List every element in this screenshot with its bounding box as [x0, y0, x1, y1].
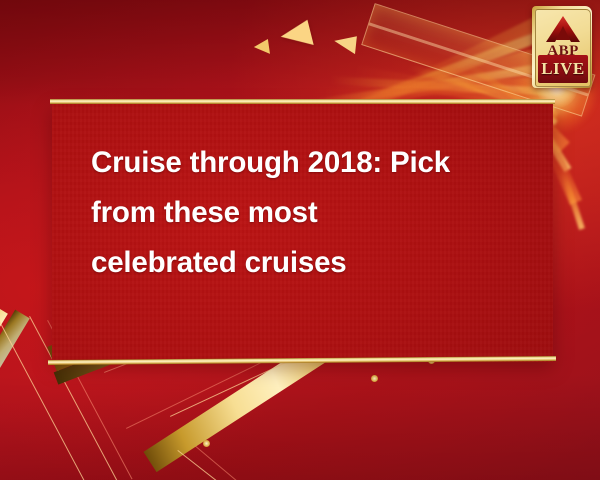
live-badge-text: LIVE: [541, 59, 585, 79]
gold-triangle-small-icon: [253, 39, 270, 56]
abp-chevron-icon: [546, 16, 580, 44]
logo-inner-plate: ABP LIVE: [535, 9, 591, 87]
chevron-node-icon: [203, 440, 210, 447]
live-badge: LIVE: [538, 55, 588, 83]
news-card: Cruise through 2018: Pick from these mos…: [0, 0, 600, 480]
panel-top-gold-rule: [50, 99, 555, 104]
page-title: Cruise through 2018: Pick from these mos…: [91, 138, 511, 288]
chevron-node-icon: [371, 375, 378, 382]
abp-live-logo[interactable]: ABP LIVE: [532, 6, 592, 88]
gold-triangle-medium-icon: [333, 34, 357, 54]
